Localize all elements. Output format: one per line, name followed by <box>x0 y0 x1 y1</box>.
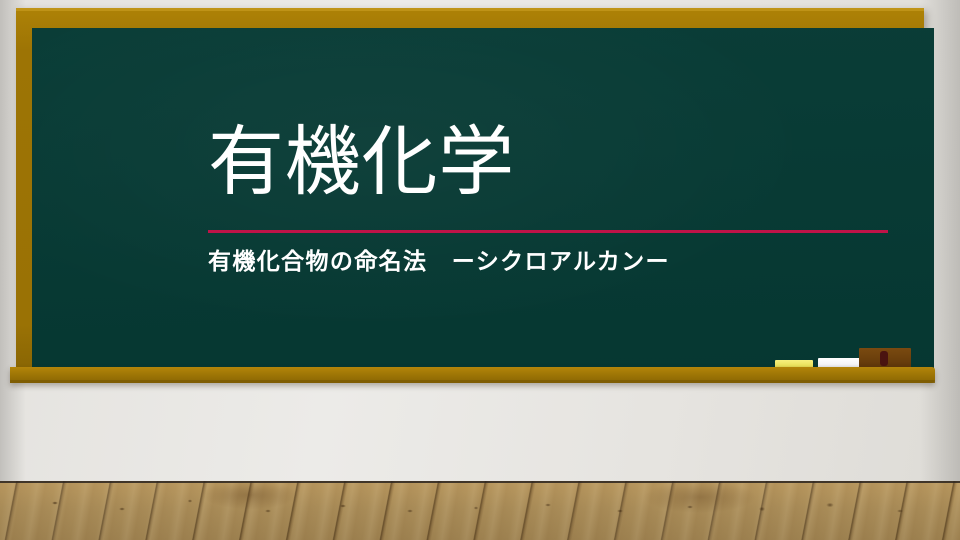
blackboard-eraser[interactable] <box>859 348 911 369</box>
chalkboard-surface[interactable]: 有機化学 有機化合物の命名法 ーシクロアルカンー <box>32 28 934 375</box>
page-subtitle: 有機化合物の命名法 ーシクロアルカンー <box>208 248 670 277</box>
chalk-ledge <box>10 367 935 383</box>
eraser-knob <box>880 351 888 366</box>
floor-knots <box>0 481 960 540</box>
floor-baseboard-edge <box>0 481 960 483</box>
title-block: 有機化学 有機化合物の命名法 ーシクロアルカンー <box>208 120 908 204</box>
chalkboard-frame: 有機化学 有機化合物の命名法 ーシクロアルカンー <box>16 8 924 368</box>
slide-canvas: 有機化学 有機化合物の命名法 ーシクロアルカンー <box>0 0 960 540</box>
wooden-floor <box>0 481 960 540</box>
ledge-lip <box>10 380 935 383</box>
frame-top-highlight <box>16 8 924 11</box>
title-divider-rule <box>208 230 888 233</box>
page-title: 有機化学 <box>208 120 908 204</box>
